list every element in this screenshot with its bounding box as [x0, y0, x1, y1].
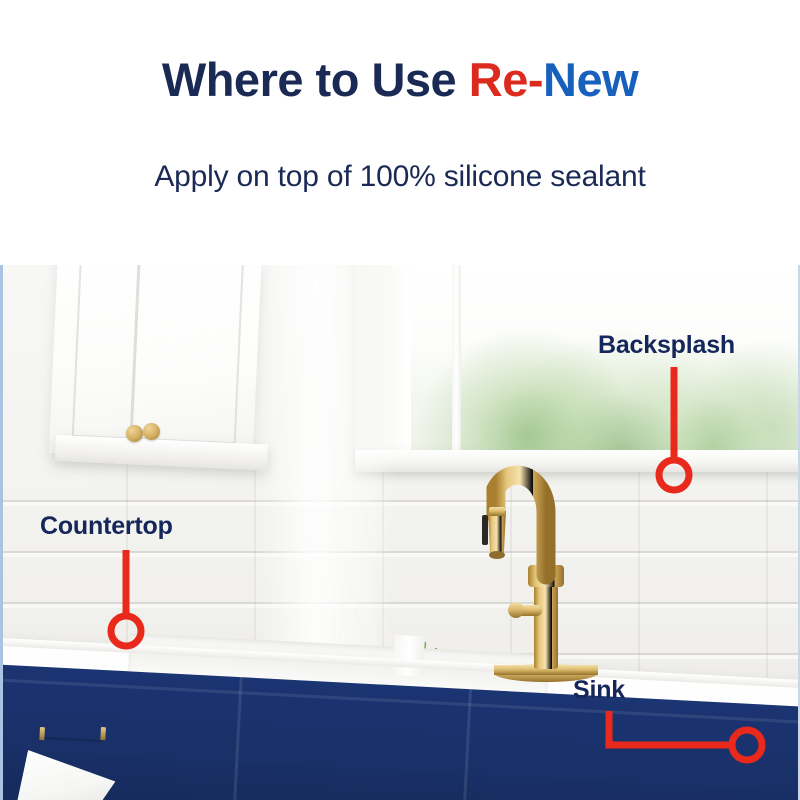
- gold-bar-handle-post: [39, 727, 45, 740]
- window-mullion: [452, 265, 461, 452]
- cabinet-knob: [143, 423, 160, 440]
- upper-cabinet-panel: [72, 265, 244, 444]
- header-block: Where to Use Re-New Apply on top of 100%…: [0, 0, 800, 265]
- callout-label-backsplash: Backsplash: [598, 331, 735, 360]
- photo-left-border: [0, 265, 3, 800]
- infographic-page: Where to Use Re-New Apply on top of 100%…: [0, 0, 800, 800]
- callout-leader-countertop: [102, 548, 152, 658]
- page-title: Where to Use Re-New: [0, 52, 800, 107]
- sink-basin-divider: [393, 635, 425, 677]
- gold-bar-handle-post: [100, 727, 106, 740]
- callout-leader-sink: [600, 705, 780, 790]
- callout-label-sink: Sink: [573, 676, 625, 705]
- callout-leader-backsplash: [650, 365, 700, 495]
- title-text-blue: New: [543, 53, 638, 106]
- title-text-red: Re-: [469, 53, 543, 106]
- cabinet-knob: [126, 425, 143, 442]
- callout-label-countertop: Countertop: [40, 512, 173, 541]
- gold-faucet: [460, 445, 640, 705]
- page-subtitle: Apply on top of 100% silicone sealant: [0, 160, 800, 194]
- title-text-main: Where to Use: [162, 53, 469, 106]
- wall-light-glow: [255, 265, 385, 659]
- window-glass: [372, 265, 800, 452]
